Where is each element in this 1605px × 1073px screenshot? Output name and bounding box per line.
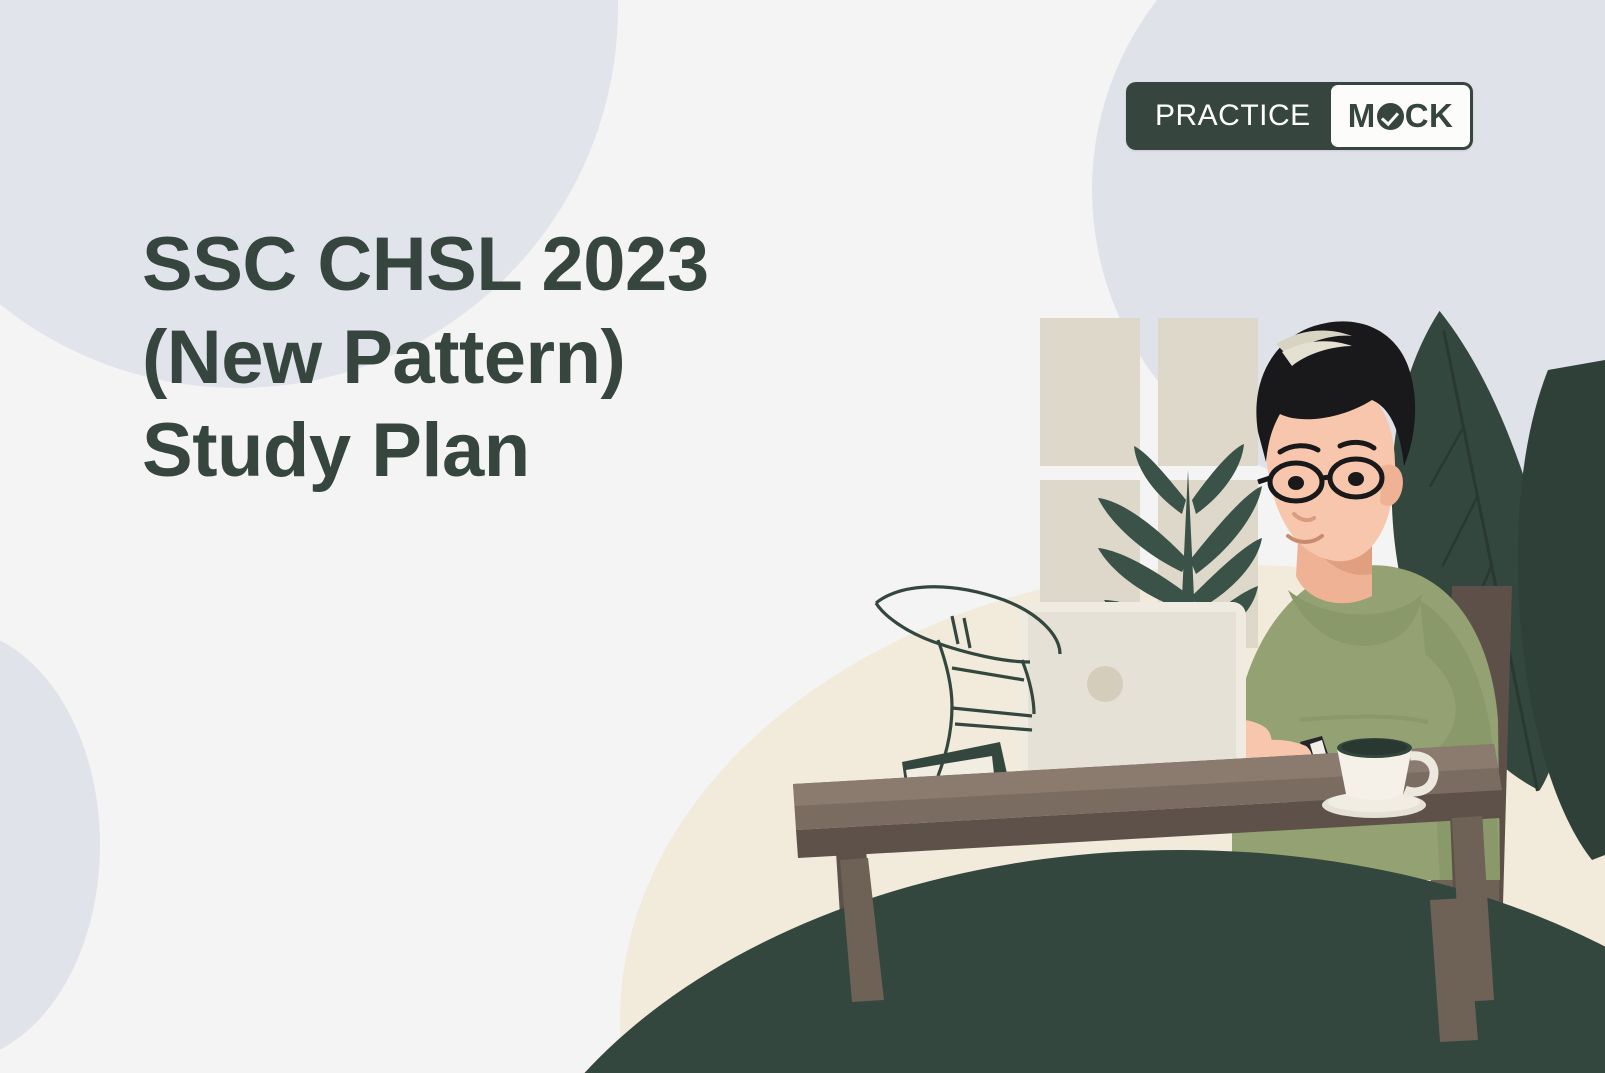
check-circle-icon [1377,103,1404,130]
logo-practice-text: PRACTICE [1129,85,1331,147]
practicemock-logo[interactable]: PRACTICE M CK [1126,82,1473,150]
logo-mock-text-m: M [1348,97,1376,135]
illustration-workspace [0,0,1605,1073]
logo-mock-badge: M CK [1331,85,1471,147]
page-title: SSC CHSL 2023 (New Pattern) Study Plan [142,218,902,497]
logo-mock-text-ck: CK [1405,97,1454,135]
banner-canvas: SSC CHSL 2023 (New Pattern) Study Plan P… [0,0,1605,1073]
